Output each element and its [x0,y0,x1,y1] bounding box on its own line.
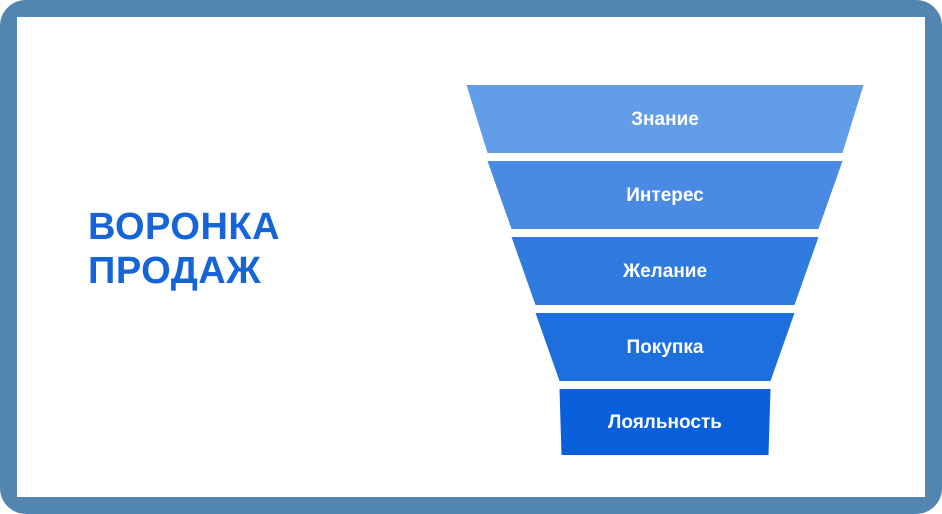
funnel-segment-label: Знание [631,109,699,130]
funnel-segment-label: Лояльность [608,412,722,433]
slide-frame: ВОРОНКА ПРОДАЖ ЗнаниеИнтересЖеланиеПокуп… [0,0,942,514]
funnel-segment-label: Интерес [626,185,704,206]
funnel-segment-label: Покупка [627,337,704,358]
funnel-segment-label: Желание [622,261,707,282]
page-title: ВОРОНКА ПРОДАЖ [88,205,408,293]
funnel-chart: ЗнаниеИнтересЖеланиеПокупкаЛояльность [450,68,880,458]
funnel-svg: ЗнаниеИнтересЖеланиеПокупкаЛояльность [450,68,880,458]
slide-canvas: ВОРОНКА ПРОДАЖ ЗнаниеИнтересЖеланиеПокуп… [17,17,925,497]
funnel-segments: ЗнаниеИнтересЖеланиеПокупкаЛояльность [467,85,864,455]
